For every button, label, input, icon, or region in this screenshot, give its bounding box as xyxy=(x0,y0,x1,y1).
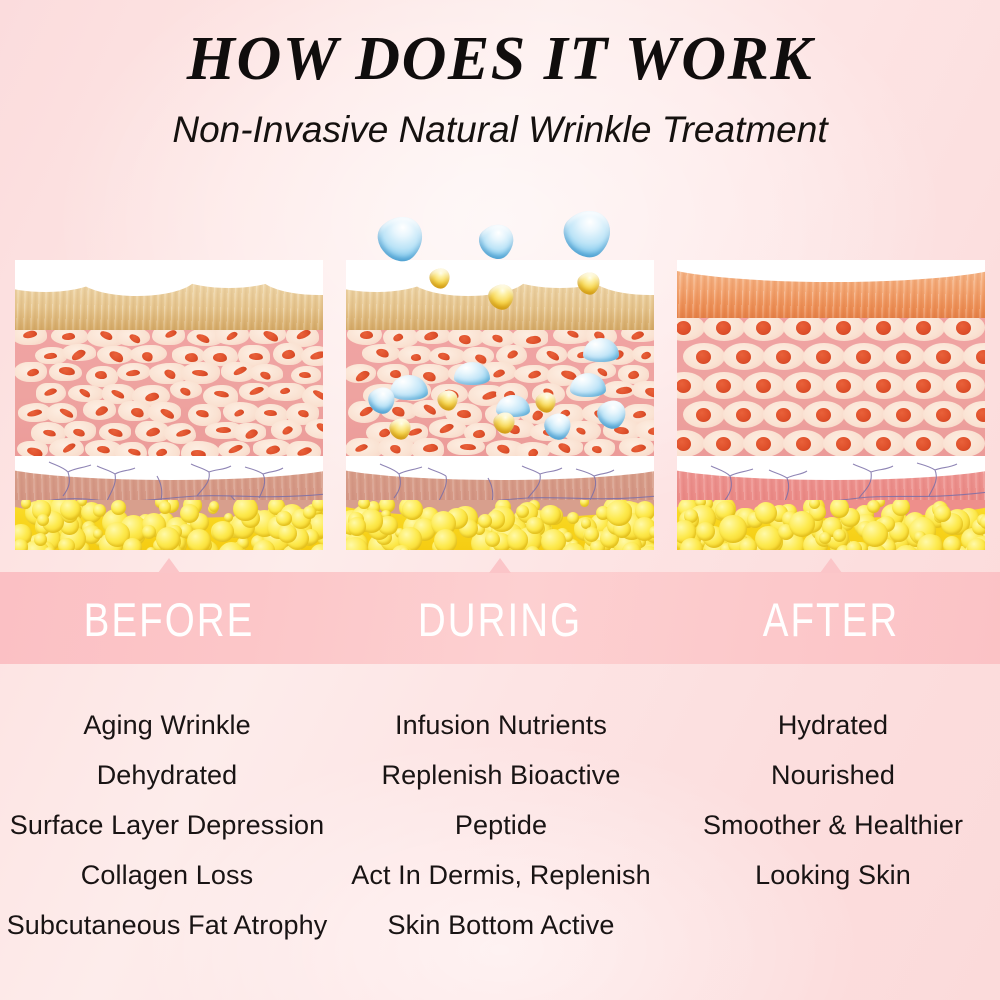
fat-cell xyxy=(819,532,831,544)
description-line: Hydrated xyxy=(666,700,1000,750)
dermis-cell xyxy=(118,401,151,421)
dermis-cell xyxy=(783,318,825,341)
cell-nucleus xyxy=(392,332,404,342)
cell-nucleus xyxy=(527,369,542,380)
cell-nucleus xyxy=(776,350,791,364)
stage-label-during: DURING xyxy=(374,592,627,647)
cell-nucleus xyxy=(125,369,140,377)
fat-cell xyxy=(830,500,850,518)
cell-nucleus xyxy=(108,349,125,364)
cell-nucleus xyxy=(44,352,57,359)
dermis-cell xyxy=(301,346,323,366)
dermis-cell xyxy=(863,372,905,399)
cell-nucleus xyxy=(640,351,652,361)
cell-nucleus xyxy=(796,379,811,393)
cell-nucleus xyxy=(956,437,971,451)
fat-cell xyxy=(276,511,291,526)
epidermis-layer-smooth xyxy=(677,268,985,324)
cell-nucleus xyxy=(43,387,58,397)
cell-nucleus xyxy=(936,350,951,364)
skin-diagram-before xyxy=(15,260,323,550)
dermis-cell xyxy=(271,420,302,440)
cell-nucleus xyxy=(628,370,640,380)
dermis-cell xyxy=(429,419,466,437)
dermis-cell xyxy=(943,430,985,457)
cell-nucleus xyxy=(716,379,731,393)
cell-nucleus xyxy=(375,347,390,359)
cell-nucleus xyxy=(615,387,631,396)
dermis-cell xyxy=(305,419,323,440)
band-notch-after xyxy=(820,558,842,573)
panel-before xyxy=(15,260,323,550)
cell-nucleus xyxy=(422,443,438,453)
cell-nucleus xyxy=(756,379,771,393)
dermis-cell xyxy=(703,430,745,457)
cell-nucleus xyxy=(281,425,294,437)
cell-nucleus xyxy=(264,410,278,417)
dermis-cell xyxy=(823,430,865,457)
description-line: Looking Skin xyxy=(666,850,1000,900)
description-line: Subcutaneous Fat Atrophy xyxy=(0,900,334,950)
dermis-cell xyxy=(250,364,283,381)
cell-nucleus xyxy=(248,353,262,361)
dermis-cell xyxy=(602,381,635,398)
dermis-cell xyxy=(703,318,745,341)
description-column-before: Aging WrinkleDehydratedSurface Layer Dep… xyxy=(0,700,334,950)
cell-nucleus xyxy=(632,410,646,419)
cell-nucleus xyxy=(438,352,452,362)
dermis-cell xyxy=(447,438,485,455)
dermis-cell xyxy=(233,423,266,442)
cell-nucleus xyxy=(716,437,731,451)
cell-nucleus xyxy=(128,332,142,344)
fat-cell xyxy=(358,500,369,509)
cell-nucleus xyxy=(262,330,280,343)
dermis-cell xyxy=(415,330,450,344)
cell-nucleus xyxy=(389,443,402,455)
dermis-cell xyxy=(803,401,845,428)
dermis-cell xyxy=(51,330,88,345)
dermis-cell xyxy=(863,430,905,457)
cell-nucleus xyxy=(736,350,751,364)
cell-nucleus xyxy=(259,370,272,381)
cell-nucleus xyxy=(111,388,126,399)
dermis-cell xyxy=(823,372,865,399)
dermis-layer xyxy=(677,318,985,462)
fat-cell xyxy=(58,538,74,550)
cell-nucleus xyxy=(164,330,177,339)
dermis-cell xyxy=(883,343,925,370)
dermis-cell xyxy=(963,401,985,428)
cell-nucleus xyxy=(856,408,871,422)
cell-nucleus xyxy=(422,402,438,416)
cell-nucleus xyxy=(956,379,971,393)
cell-nucleus xyxy=(144,391,160,402)
fat-cell xyxy=(507,529,529,550)
header: HOW DOES IT WORK Non-Invasive Natural Wr… xyxy=(0,0,1000,151)
cell-nucleus xyxy=(159,406,175,419)
cell-nucleus xyxy=(232,365,247,376)
skin-diagram-after xyxy=(677,260,985,550)
dermis-cell xyxy=(743,430,785,457)
cell-nucleus xyxy=(896,350,911,364)
band-notch-during xyxy=(489,558,511,573)
dermis-cell xyxy=(15,330,47,345)
cell-nucleus xyxy=(630,443,646,453)
cell-nucleus xyxy=(816,408,831,422)
cell-nucleus xyxy=(696,350,711,364)
dermis-cell xyxy=(943,318,985,341)
infographic-page: HOW DOES IT WORK Non-Invasive Natural Wr… xyxy=(0,0,1000,1000)
dermis-cell xyxy=(903,318,945,341)
cell-nucleus xyxy=(140,350,153,363)
dermis-cell xyxy=(547,439,584,456)
cell-nucleus xyxy=(234,408,246,417)
dermis-cell xyxy=(632,346,654,363)
cell-nucleus xyxy=(876,437,891,451)
cell-nucleus xyxy=(756,321,771,335)
cell-nucleus xyxy=(179,386,192,397)
dermis-cell xyxy=(398,346,431,363)
cell-nucleus xyxy=(976,350,985,364)
dermis-cell xyxy=(632,381,654,399)
dermis-cell xyxy=(97,346,133,364)
cell-nucleus xyxy=(225,330,238,341)
cell-nucleus xyxy=(648,426,654,435)
cell-nucleus xyxy=(836,437,851,451)
fat-cell xyxy=(187,529,211,550)
description-line: Nourished xyxy=(666,750,1000,800)
dermis-cell xyxy=(783,372,825,399)
cell-nucleus xyxy=(456,410,471,420)
fat-cell xyxy=(846,541,862,550)
dermis-cell xyxy=(683,401,725,428)
cell-nucleus xyxy=(130,406,145,418)
cell-nucleus xyxy=(22,330,37,339)
dermis-cell xyxy=(536,346,567,364)
dermis-cell xyxy=(46,403,78,423)
dermis-cell xyxy=(362,344,400,363)
dermis-cell xyxy=(249,330,285,344)
description-line: Surface Layer Depression xyxy=(0,800,334,850)
dermis-cell xyxy=(743,372,785,399)
fat-cell xyxy=(917,534,944,550)
dermis-cell xyxy=(253,439,291,458)
cell-nucleus xyxy=(677,379,691,393)
description-line: Aging Wrinkle xyxy=(0,700,334,750)
dermis-cell xyxy=(223,402,259,423)
dermis-cell xyxy=(346,364,376,383)
cell-nucleus xyxy=(58,406,74,419)
panel-after xyxy=(677,260,985,550)
dermis-cell xyxy=(99,423,131,442)
fat-cell xyxy=(348,517,367,536)
fat-cell xyxy=(980,515,985,528)
cell-nucleus xyxy=(796,437,811,451)
fat-cell xyxy=(402,500,423,520)
fat-cell xyxy=(209,501,219,511)
fat-cell xyxy=(934,505,951,522)
description-line: Collagen Loss xyxy=(0,850,334,900)
page-title: HOW DOES IT WORK xyxy=(0,0,1000,93)
cell-nucleus xyxy=(145,426,161,438)
description-line: Peptide xyxy=(334,800,668,850)
cell-nucleus xyxy=(196,409,210,419)
subcutaneous-fat-layer xyxy=(677,500,985,550)
fat-cell xyxy=(123,538,142,550)
dermis-cell xyxy=(83,400,116,420)
dermis-cell xyxy=(148,402,182,422)
cell-nucleus xyxy=(546,349,562,362)
fat-cell xyxy=(943,536,961,550)
dermis-cell xyxy=(723,343,765,370)
cell-nucleus xyxy=(644,386,654,399)
dermis-cell xyxy=(347,330,382,345)
cell-nucleus xyxy=(295,330,312,341)
fat-cell xyxy=(478,514,492,528)
cell-nucleus xyxy=(631,330,646,341)
dermis-cell xyxy=(743,318,785,341)
dermis-cell xyxy=(619,438,654,457)
cell-nucleus xyxy=(360,331,373,340)
cell-nucleus xyxy=(736,408,751,422)
cell-nucleus xyxy=(354,443,368,454)
dermis-cell xyxy=(215,330,249,345)
cell-nucleus xyxy=(438,422,454,435)
cell-nucleus xyxy=(473,430,486,439)
cell-nucleus xyxy=(836,379,851,393)
dermis-cell xyxy=(130,345,167,363)
fat-cell xyxy=(159,501,171,513)
cell-nucleus xyxy=(423,331,439,342)
dermis-cell xyxy=(943,372,985,399)
dermis-cell xyxy=(903,372,945,399)
cell-nucleus xyxy=(175,428,191,438)
cell-nucleus xyxy=(496,443,511,455)
description-column-during: Infusion NutrientsReplenish BioactivePep… xyxy=(334,700,668,950)
cell-nucleus xyxy=(716,321,731,335)
cell-nucleus xyxy=(249,386,265,397)
cell-nucleus xyxy=(696,408,711,422)
dermis-cells xyxy=(677,318,985,462)
cell-nucleus xyxy=(213,353,227,363)
subcutaneous-fat-layer xyxy=(15,500,323,550)
dermis-cell xyxy=(723,401,765,428)
fat-cell xyxy=(649,526,654,537)
cell-nucleus xyxy=(856,350,871,364)
cell-nucleus xyxy=(506,349,519,360)
fat-cell xyxy=(541,529,566,550)
cell-nucleus xyxy=(876,379,891,393)
dermis-cell xyxy=(621,330,654,342)
cell-nucleus xyxy=(816,350,831,364)
water-droplet xyxy=(473,217,521,265)
cell-nucleus xyxy=(936,408,951,422)
cell-nucleus xyxy=(214,389,230,398)
fat-cell xyxy=(755,502,777,524)
fat-cell xyxy=(399,547,410,550)
dermis-cell xyxy=(62,344,96,361)
cell-nucleus xyxy=(876,321,891,335)
dermis-cell xyxy=(763,343,805,370)
fat-cell xyxy=(303,506,316,519)
cell-nucleus xyxy=(422,370,437,382)
dermis-cells xyxy=(15,330,323,462)
cell-nucleus xyxy=(391,405,406,418)
dermis-cell xyxy=(36,383,66,404)
cell-nucleus xyxy=(312,389,323,403)
dermis-cell xyxy=(923,401,965,428)
cell-nucleus xyxy=(916,437,931,451)
cell-nucleus xyxy=(410,354,420,361)
dermis-layer xyxy=(15,330,323,462)
cell-nucleus xyxy=(73,427,86,438)
dermis-cell xyxy=(683,343,725,370)
cell-nucleus xyxy=(192,369,208,377)
cell-nucleus xyxy=(776,408,791,422)
cell-nucleus xyxy=(567,330,580,339)
description-column-after: HydratedNourishedSmoother & HealthierLoo… xyxy=(666,700,1000,900)
cell-nucleus xyxy=(492,368,506,379)
stage-label-after: AFTER xyxy=(705,592,958,647)
cell-nucleus xyxy=(280,387,291,395)
fat-cell xyxy=(111,500,126,515)
cell-nucleus xyxy=(299,372,312,379)
cell-nucleus xyxy=(184,353,198,363)
description-line: Dehydrated xyxy=(0,750,334,800)
fat-cell xyxy=(567,512,579,524)
dermis-cell xyxy=(677,318,705,341)
dermis-cell xyxy=(514,365,550,383)
description-columns: Aging WrinkleDehydratedSurface Layer Dep… xyxy=(0,700,1000,950)
dermis-cell xyxy=(703,372,745,399)
dermis-cell xyxy=(267,383,306,401)
cell-nucleus xyxy=(591,444,603,453)
dermis-cell xyxy=(803,343,845,370)
fat-cell xyxy=(93,504,106,517)
fat-cell xyxy=(606,500,632,526)
cell-nucleus xyxy=(836,321,851,335)
cell-nucleus xyxy=(96,444,110,453)
fat-cell xyxy=(862,521,888,547)
dermis-cell xyxy=(135,421,169,442)
cell-nucleus xyxy=(244,427,259,440)
cell-nucleus xyxy=(976,408,985,422)
cell-nucleus xyxy=(297,409,309,419)
subcutaneous-fat-layer xyxy=(346,500,654,550)
dermis-cell xyxy=(843,401,885,428)
page-subtitle: Non-Invasive Natural Wrinkle Treatment xyxy=(0,93,1000,151)
cell-nucleus xyxy=(27,409,43,418)
fat-cell xyxy=(212,521,234,543)
description-line: Smoother & Healthier xyxy=(666,800,1000,850)
fat-cell xyxy=(967,538,985,550)
cell-nucleus xyxy=(94,405,109,418)
stage-label-before: BEFORE xyxy=(43,592,296,647)
band-notch-before xyxy=(158,558,180,573)
cell-nucleus xyxy=(107,427,123,438)
dermis-cell xyxy=(843,343,885,370)
cell-nucleus xyxy=(916,321,931,335)
cell-nucleus xyxy=(265,444,280,455)
cell-nucleus xyxy=(756,437,771,451)
dermis-cell xyxy=(273,343,304,365)
water-droplet xyxy=(555,200,620,265)
cell-nucleus xyxy=(677,321,691,335)
dermis-cell xyxy=(116,330,150,346)
cell-nucleus xyxy=(227,443,243,455)
fat-cell xyxy=(526,517,543,534)
cell-nucleus xyxy=(460,444,476,451)
cell-nucleus xyxy=(677,437,691,451)
cell-nucleus xyxy=(354,368,371,383)
fat-cell xyxy=(696,522,715,541)
fat-cell xyxy=(789,511,815,537)
dermis-cell xyxy=(863,318,905,341)
cell-nucleus xyxy=(59,366,76,376)
fat-cell xyxy=(156,527,180,550)
cell-nucleus xyxy=(282,350,296,360)
cell-nucleus xyxy=(309,350,323,360)
cell-nucleus xyxy=(27,368,40,378)
cell-nucleus xyxy=(216,427,231,433)
description-line: Skin Bottom Active xyxy=(334,900,668,950)
fat-cell xyxy=(739,538,757,550)
dermis-cell xyxy=(170,381,202,399)
fat-cell xyxy=(434,529,457,550)
cell-nucleus xyxy=(79,387,92,398)
dermis-cell xyxy=(49,438,85,458)
dermis-cell xyxy=(239,383,270,401)
dermis-cell xyxy=(429,347,465,366)
cell-nucleus xyxy=(94,371,107,380)
cell-nucleus xyxy=(956,321,971,335)
dermis-cell xyxy=(923,343,965,370)
dermis-cell xyxy=(963,343,985,370)
cell-nucleus xyxy=(491,332,504,343)
dermis-cell xyxy=(763,401,805,428)
description-line: Replenish Bioactive xyxy=(334,750,668,800)
dermis-cell xyxy=(291,366,321,384)
cell-nucleus xyxy=(796,321,811,335)
cell-nucleus xyxy=(557,441,573,455)
dermis-cell xyxy=(117,363,150,381)
fat-cell xyxy=(93,529,103,539)
description-line: Act In Dermis, Replenish xyxy=(334,850,668,900)
fat-cell xyxy=(233,500,257,521)
dermis-cell xyxy=(677,430,705,457)
dermis-cell xyxy=(677,372,705,399)
cell-nucleus xyxy=(458,334,472,345)
cell-nucleus xyxy=(128,447,142,456)
dermis-cell xyxy=(152,330,185,345)
cell-nucleus xyxy=(196,332,212,345)
cell-nucleus xyxy=(576,426,588,436)
cell-nucleus xyxy=(100,330,115,341)
dermis-cell xyxy=(783,430,825,457)
cell-nucleus xyxy=(916,379,931,393)
dermis-cell xyxy=(823,318,865,341)
dermis-cell xyxy=(15,362,47,382)
fat-cell xyxy=(142,525,156,539)
cell-nucleus xyxy=(162,368,176,381)
cell-nucleus xyxy=(526,335,541,344)
cell-nucleus xyxy=(70,348,87,363)
dermis-cell xyxy=(883,401,925,428)
cell-nucleus xyxy=(896,408,911,422)
fat-cell xyxy=(44,547,54,550)
cell-nucleus xyxy=(62,442,77,454)
